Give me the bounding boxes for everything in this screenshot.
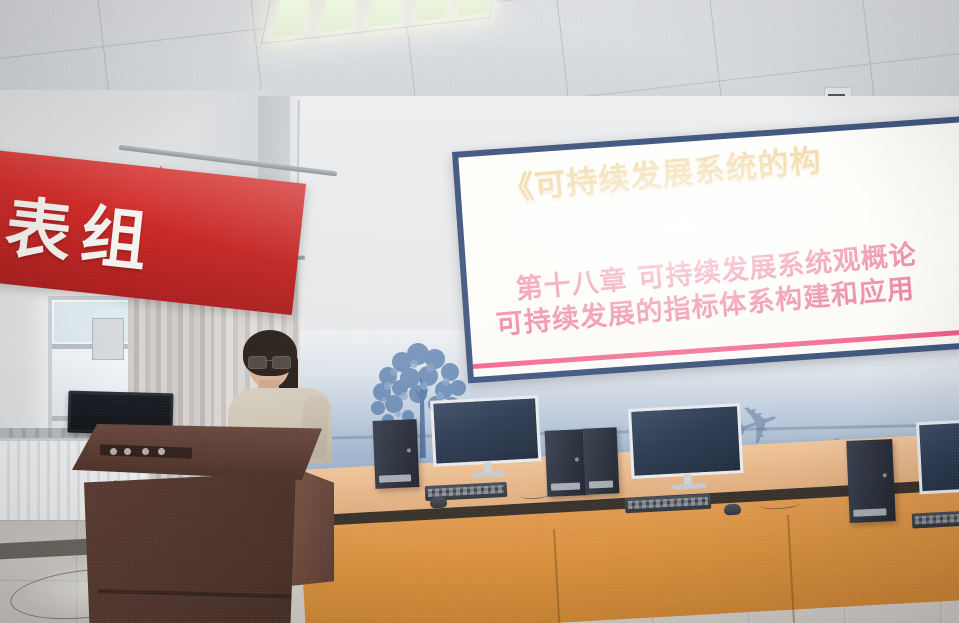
monitor-3: [916, 418, 959, 505]
podium-indicator-light: [124, 448, 131, 455]
podium-trim: [98, 589, 306, 599]
presenter-hair: [243, 330, 297, 376]
glasses-lens-right: [272, 356, 291, 369]
lecture-hall-photo: ✈ ✈ ✈ 代表组 《可持续发展系统的构 第十八章 可持续发展系统观概论 可持续…: [0, 0, 959, 623]
monitor-screen: [916, 418, 959, 495]
podium-side-panel: [290, 466, 334, 586]
light-tube: [273, 0, 317, 38]
podium-front-panel: [84, 472, 296, 623]
podium-indicator-light: [110, 448, 117, 455]
tower-power-button[interactable]: [407, 448, 411, 452]
mouse-2[interactable]: [724, 504, 742, 516]
monitor-screen: [430, 395, 541, 467]
tower-drive-bay: [379, 474, 411, 482]
glasses-icon: [248, 356, 290, 367]
monitor-1: [430, 395, 542, 477]
podium-top-surface: [72, 424, 322, 480]
projection-screen: 《可持续发展系统的构 第十八章 可持续发展系统观概论 可持续发展的指标体系构建和…: [452, 115, 959, 383]
tower-drive-bay: [853, 508, 886, 516]
projection-screen-surface: 《可持续发展系统的构 第十八章 可持续发展系统观概论 可持续发展的指标体系构建和…: [458, 121, 959, 377]
podium-indicator-light: [158, 448, 165, 455]
tower-drive-bay: [589, 480, 614, 488]
tower-drive-bay: [551, 482, 580, 490]
computer-tower: [373, 419, 420, 489]
podium: [72, 424, 322, 623]
computer-tower: [545, 429, 588, 497]
glasses-bridge: [265, 360, 272, 361]
tower-power-button[interactable]: [575, 457, 579, 461]
light-tube: [416, 0, 460, 21]
computer-tower: [846, 439, 896, 523]
monitor-2: [628, 403, 744, 489]
wall-utility-box: [92, 318, 124, 360]
keyboard-3[interactable]: [912, 510, 959, 528]
monitor-screen: [628, 403, 744, 479]
mouse-1[interactable]: [430, 497, 448, 509]
glasses-lens-left: [248, 356, 267, 369]
light-tube: [320, 0, 364, 32]
light-tube: [368, 0, 412, 27]
tower-power-button[interactable]: [883, 474, 887, 478]
podium-indicator-light: [142, 448, 149, 455]
computer-tower: [583, 427, 620, 494]
